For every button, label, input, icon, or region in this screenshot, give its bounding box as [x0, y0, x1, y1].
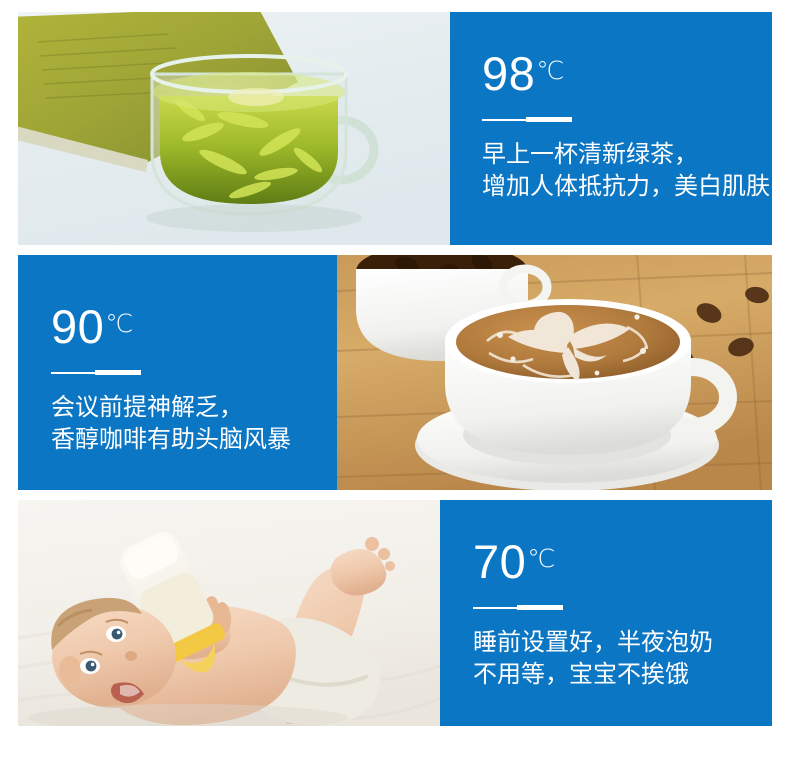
divider: [482, 117, 572, 123]
divider-thin-segment: [51, 372, 95, 374]
green-tea-illustration: [18, 12, 450, 245]
photo-green-tea: [18, 12, 450, 245]
divider: [473, 605, 563, 611]
temperature-display-98: 98℃: [482, 50, 772, 97]
photo-coffee: [337, 255, 772, 490]
description-line-2: 增加人体抵抗力，美白肌肤: [482, 171, 772, 203]
baby-illustration: [18, 500, 440, 726]
description-line-1: 会议前提神解乏，: [51, 392, 337, 424]
photo-baby-milk: [18, 500, 440, 726]
temperature-unit: ℃: [536, 57, 565, 85]
temperature-value: 98: [482, 47, 535, 100]
feature-row-coffee: 90℃ 会议前提神解乏， 香醇咖啡有助头脑风暴: [18, 255, 772, 490]
divider-thin-segment: [482, 119, 526, 121]
divider-thick-segment: [517, 605, 563, 610]
divider-thin-segment: [473, 607, 517, 609]
coffee-illustration: [337, 255, 772, 490]
temperature-value: 70: [473, 535, 526, 588]
product-feature-banner: 98℃ 早上一杯清新绿茶， 增加人体抵抗力，美白肌肤 90℃: [0, 0, 790, 758]
divider: [51, 370, 141, 376]
description-coffee: 会议前提神解乏， 香醇咖啡有助头脑风暴: [51, 392, 337, 456]
description-line-2: 不用等，宝宝不挨饿: [473, 659, 772, 691]
description-green-tea: 早上一杯清新绿茶， 增加人体抵抗力，美白肌肤: [482, 139, 772, 203]
description-line-1: 睡前设置好，半夜泡奶: [473, 627, 772, 659]
description-baby-milk: 睡前设置好，半夜泡奶 不用等，宝宝不挨饿: [473, 627, 772, 691]
temperature-display-90: 90℃: [51, 303, 337, 350]
panel-coffee: 90℃ 会议前提神解乏， 香醇咖啡有助头脑风暴: [18, 255, 337, 490]
temperature-unit: ℃: [527, 545, 556, 573]
description-line-2: 香醇咖啡有助头脑风暴: [51, 424, 337, 456]
panel-green-tea: 98℃ 早上一杯清新绿茶， 增加人体抵抗力，美白肌肤: [450, 12, 772, 245]
divider-thick-segment: [95, 370, 141, 375]
description-line-1: 早上一杯清新绿茶，: [482, 139, 772, 171]
divider-thick-segment: [526, 117, 572, 122]
feature-row-baby-milk: 70℃ 睡前设置好，半夜泡奶 不用等，宝宝不挨饿: [18, 500, 772, 726]
temperature-display-70: 70℃: [473, 538, 772, 585]
temperature-unit: ℃: [105, 310, 134, 338]
feature-row-green-tea: 98℃ 早上一杯清新绿茶， 增加人体抵抗力，美白肌肤: [18, 12, 772, 245]
panel-baby-milk: 70℃ 睡前设置好，半夜泡奶 不用等，宝宝不挨饿: [440, 500, 772, 726]
temperature-value: 90: [51, 300, 104, 353]
